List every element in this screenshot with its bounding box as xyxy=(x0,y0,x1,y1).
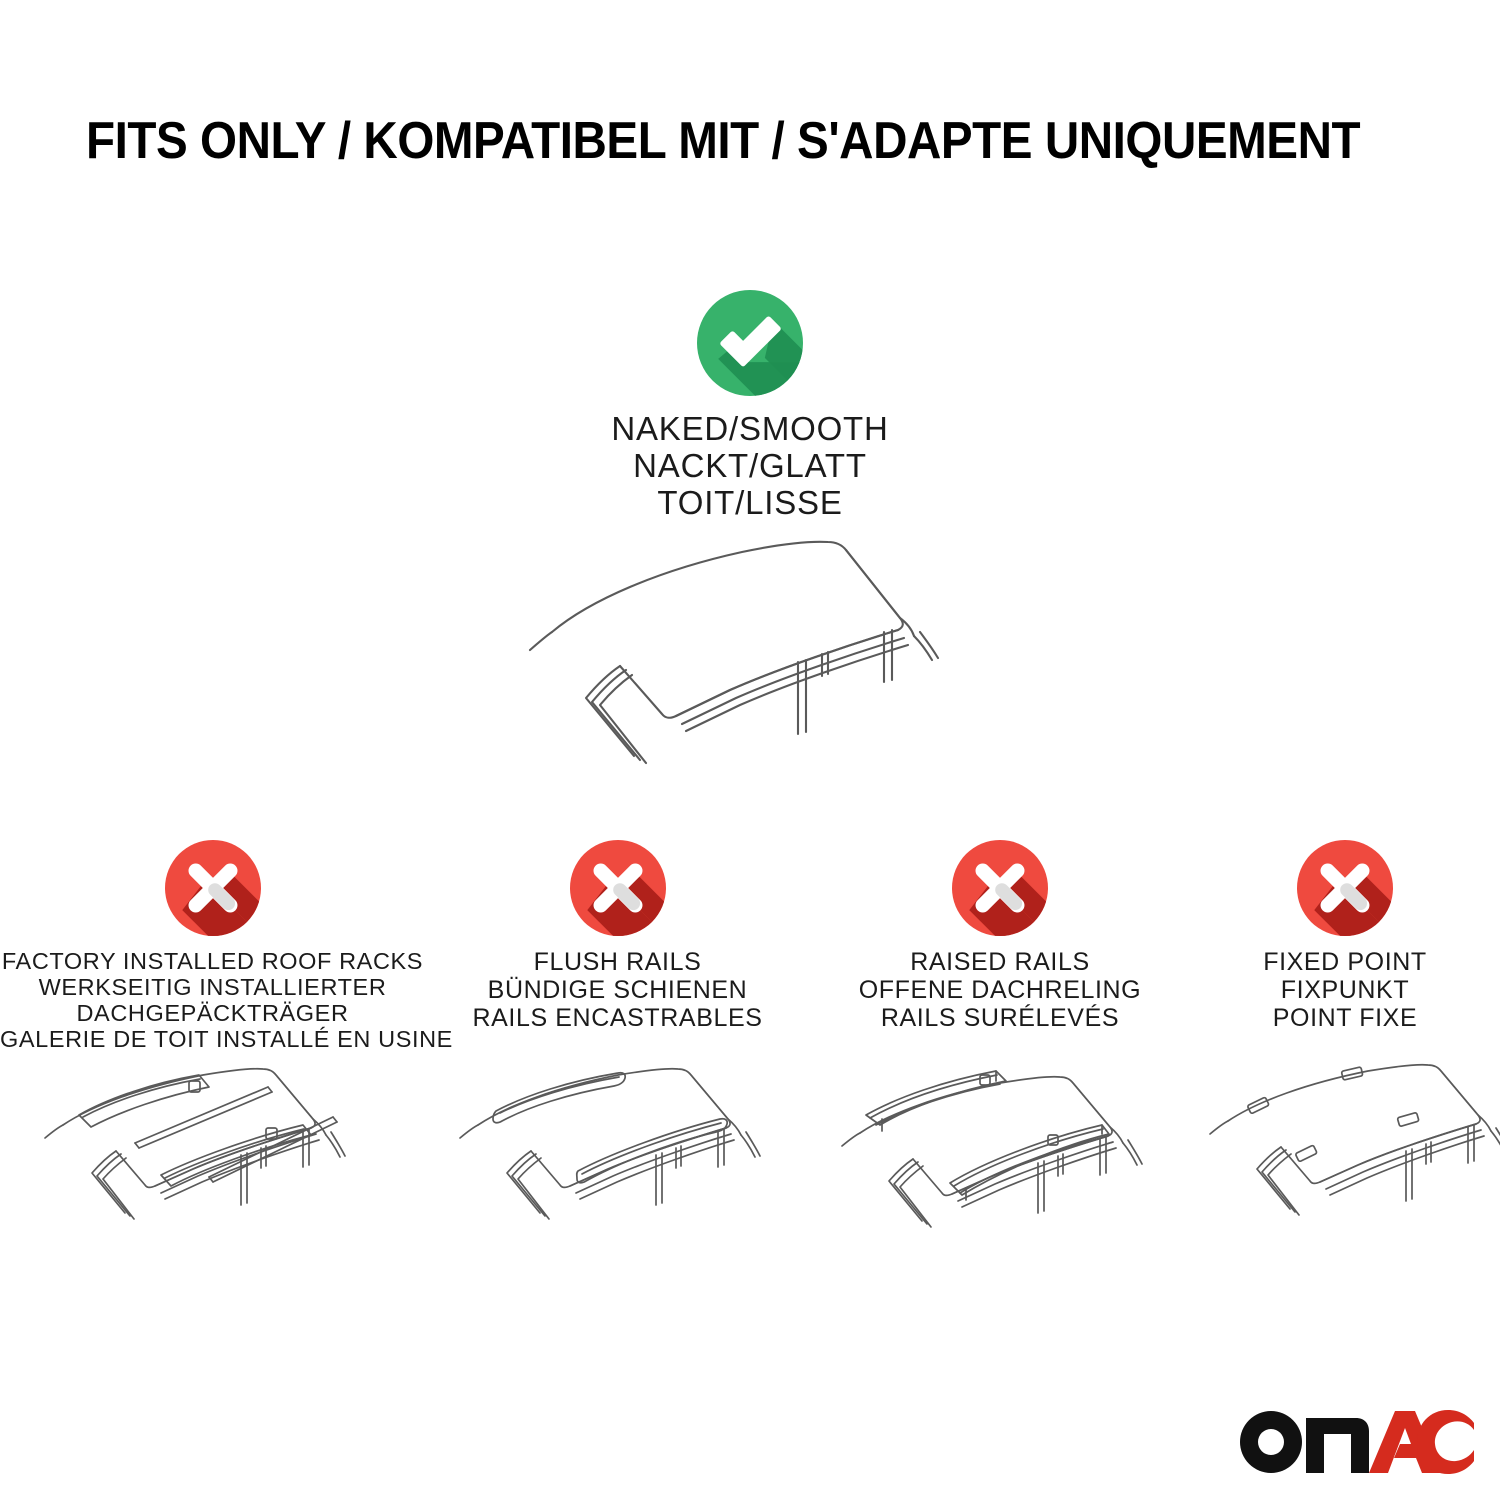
caption-line-en: FACTORY INSTALLED ROOF RACKS xyxy=(0,948,425,974)
car-roof-factory-rack-illustration xyxy=(0,1055,425,1270)
caption-line-de-2: DACHGEPÄCKTRÄGER xyxy=(0,1000,425,1026)
compatible-caption: NAKED/SMOOTH NACKT/GLATT TOIT/LISSE xyxy=(0,410,1500,521)
car-roof-raised-rails-illustration xyxy=(810,1055,1190,1270)
caption-line-de: BÜNDIGE SCHIENEN xyxy=(425,976,810,1004)
cross-circle-icon xyxy=(952,840,1048,936)
compatible-caption-line-de: NACKT/GLATT xyxy=(0,447,1500,484)
fitment-card-caption: RAISED RAILS OFFENE DACHRELING RAILS SUR… xyxy=(810,948,1190,1032)
caption-line-en: FLUSH RAILS xyxy=(425,948,810,976)
fitment-card-caption: FACTORY INSTALLED ROOF RACKS WERKSEITIG … xyxy=(0,948,425,1052)
car-roof-naked-smooth-illustration xyxy=(480,520,1040,790)
cross-circle-icon xyxy=(165,840,261,936)
car-roof-fixed-point-illustration xyxy=(1190,1055,1500,1270)
caption-line-de: OFFENE DACHRELING xyxy=(810,976,1190,1004)
compatible-fitment-section: NAKED/SMOOTH NACKT/GLATT TOIT/LISSE xyxy=(0,290,1500,810)
cross-circle-icon xyxy=(570,840,666,936)
page-title: FITS ONLY / KOMPATIBEL MIT / S'ADAPTE UN… xyxy=(86,112,1312,170)
check-circle-icon xyxy=(697,290,803,396)
cross-circle-icon xyxy=(1297,840,1393,936)
compatible-caption-line-en: NAKED/SMOOTH xyxy=(0,410,1500,447)
fitment-card-fixed-point: FIXED POINT FIXPUNKT POINT FIXE xyxy=(1190,840,1500,1280)
caption-line-fr: POINT FIXE xyxy=(1190,1004,1500,1032)
incompatible-fitment-section: FACTORY INSTALLED ROOF RACKS WERKSEITIG … xyxy=(0,840,1500,1280)
omac-logo xyxy=(1238,1406,1474,1476)
caption-line-fr: RAILS ENCASTRABLES xyxy=(425,1004,810,1032)
caption-line-de: FIXPUNKT xyxy=(1190,976,1500,1004)
fitment-card-caption: FLUSH RAILS BÜNDIGE SCHIENEN RAILS ENCAS… xyxy=(425,948,810,1032)
car-roof-flush-rails-illustration xyxy=(425,1055,810,1270)
compatible-caption-line-fr: TOIT/LISSE xyxy=(0,484,1500,521)
caption-line-de-1: WERKSEITIG INSTALLIERTER xyxy=(0,974,425,1000)
caption-line-en: RAISED RAILS xyxy=(810,948,1190,976)
fitment-card-flush-rails: FLUSH RAILS BÜNDIGE SCHIENEN RAILS ENCAS… xyxy=(425,840,810,1280)
caption-line-fr: RAILS SURÉLEVÉS xyxy=(810,1004,1190,1032)
fitment-card-raised-rails: RAISED RAILS OFFENE DACHRELING RAILS SUR… xyxy=(810,840,1190,1280)
caption-line-fr: GALERIE DE TOIT INSTALLÉ EN USINE xyxy=(0,1026,425,1052)
caption-line-en: FIXED POINT xyxy=(1190,948,1500,976)
fitment-card-factory-rack: FACTORY INSTALLED ROOF RACKS WERKSEITIG … xyxy=(0,840,425,1280)
fitment-card-caption: FIXED POINT FIXPUNKT POINT FIXE xyxy=(1190,948,1500,1032)
